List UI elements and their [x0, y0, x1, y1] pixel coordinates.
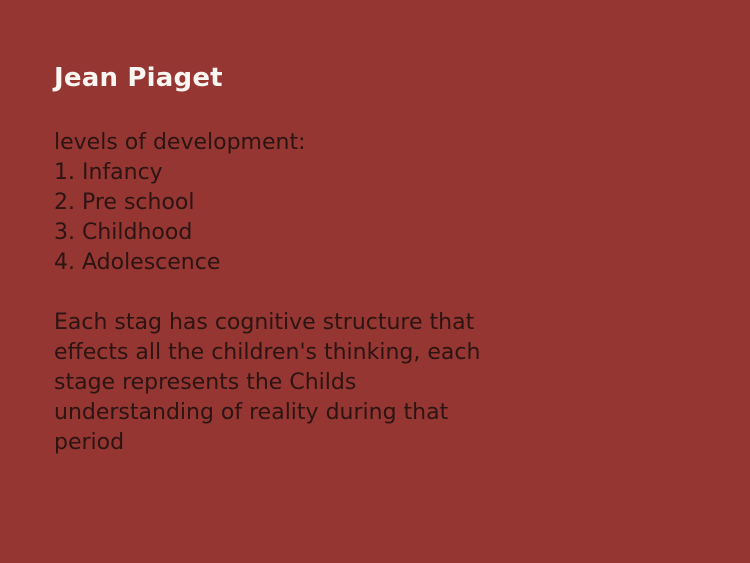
paragraph-line: Each stag has cognitive structure that — [54, 308, 654, 338]
slide-body-text: levels of development: 1. Infancy 2. Pre… — [54, 128, 654, 458]
description-paragraph-block: Each stag has cognitive structure that e… — [54, 308, 654, 458]
paragraph-line: stage represents the Childs — [54, 368, 654, 398]
page-title: Jean Piaget — [54, 62, 223, 94]
presentation-slide: Jean Piaget levels of development: 1. In… — [0, 0, 750, 563]
paragraph-line: effects all the children's thinking, eac… — [54, 338, 654, 368]
list-item: 4. Adolescence — [54, 248, 654, 278]
list-item: 1. Infancy — [54, 158, 654, 188]
levels-of-development-block: levels of development: 1. Infancy 2. Pre… — [54, 128, 654, 278]
paragraph-line: period — [54, 428, 654, 458]
list-item: 2. Pre school — [54, 188, 654, 218]
list-heading: levels of development: — [54, 128, 654, 158]
paragraph-line: understanding of reality during that — [54, 398, 654, 428]
paragraph-spacer — [54, 278, 654, 308]
list-item: 3. Childhood — [54, 218, 654, 248]
